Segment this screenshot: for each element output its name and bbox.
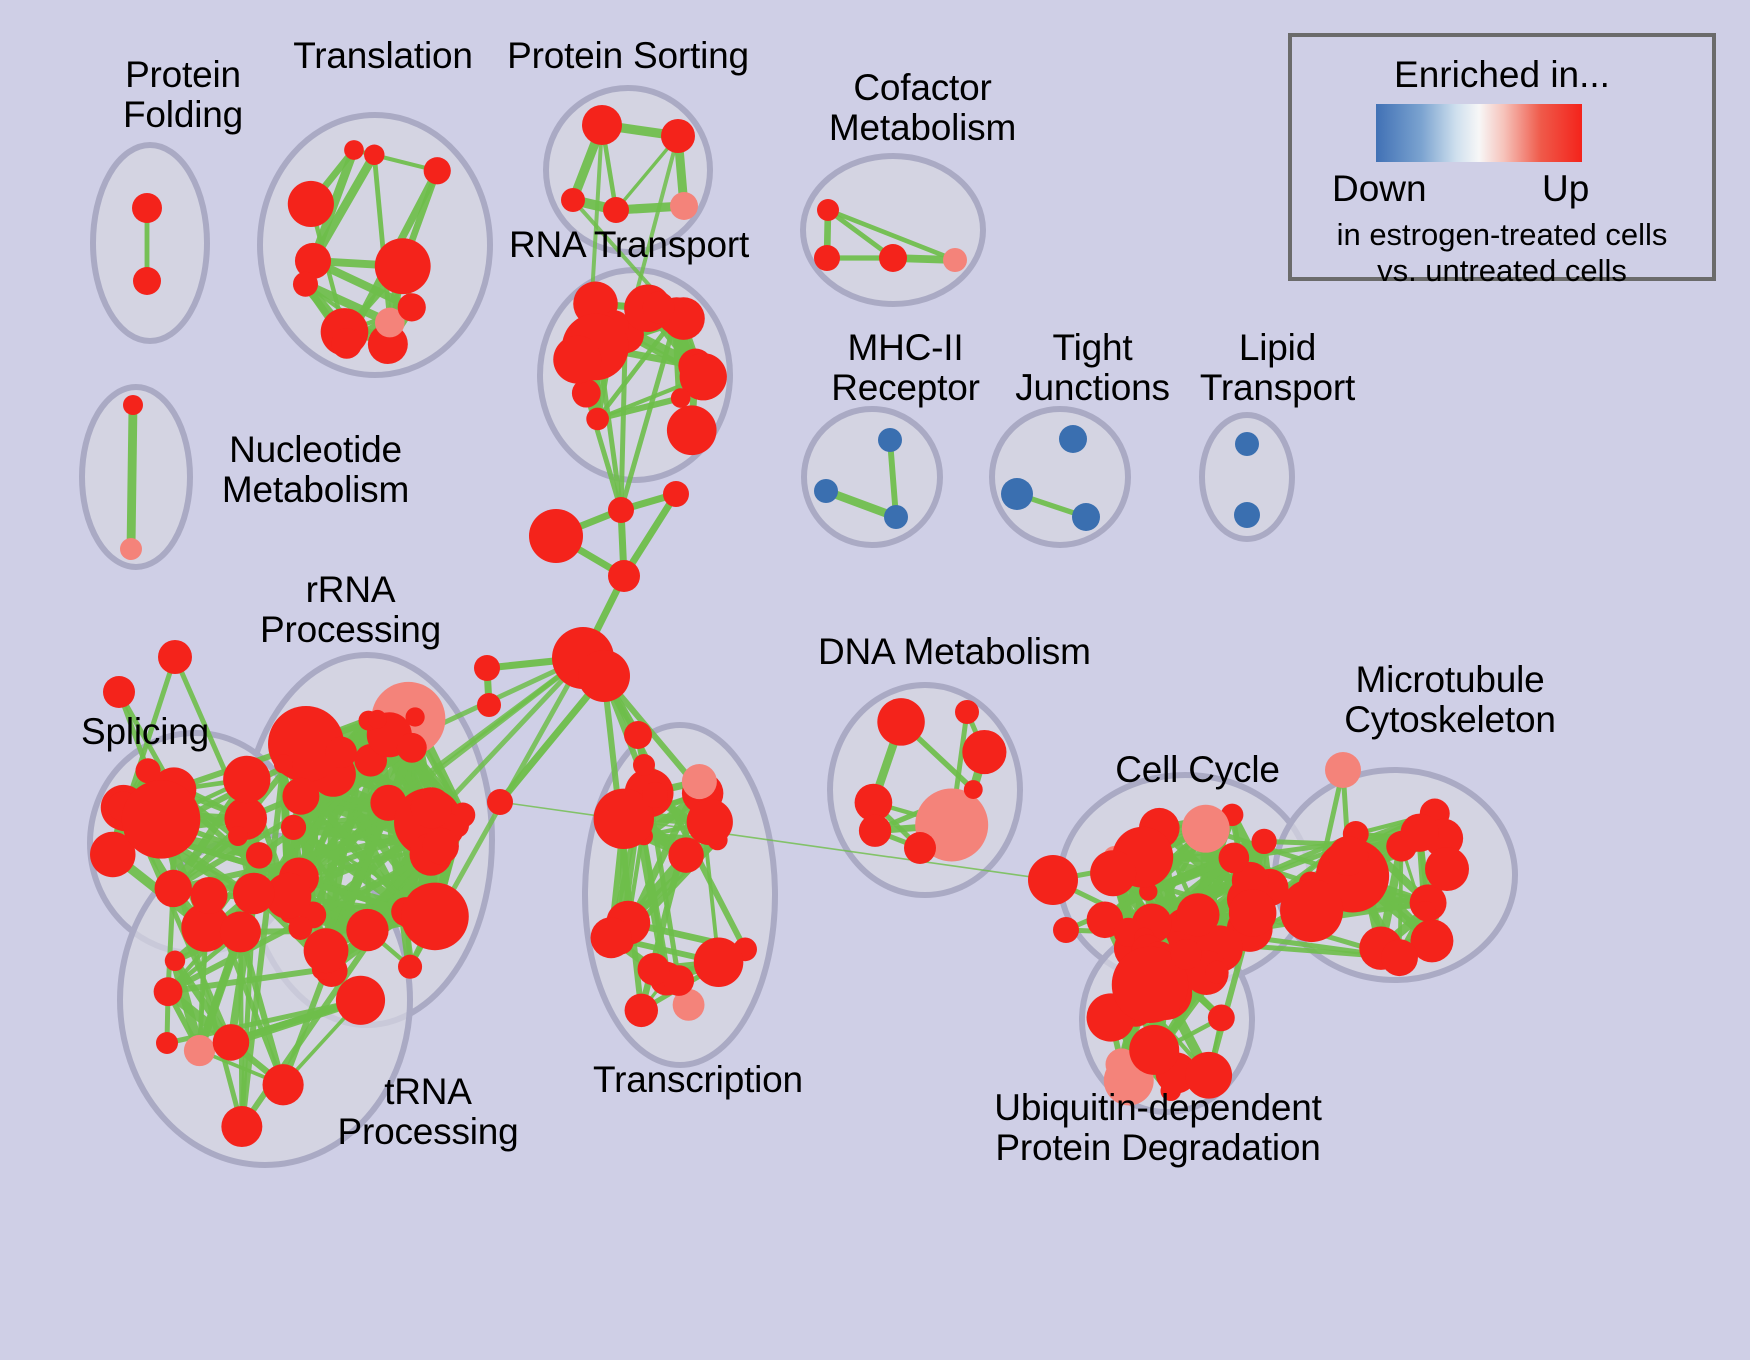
gene-set-node-translation <box>331 328 362 359</box>
gene-set-node-splicing <box>155 870 192 907</box>
gene-set-node-trna-processing <box>263 1064 304 1105</box>
network-edge <box>131 405 133 549</box>
gene-set-node-mhc-ii-receptor <box>878 428 902 452</box>
gene-set-node-cell-cycle <box>1182 805 1230 853</box>
cluster-label-cell-cycle: Cell Cycle <box>1105 750 1290 790</box>
gene-set-node-trna-processing <box>213 1024 250 1061</box>
gene-set-node-cell-cycle <box>1229 889 1277 937</box>
gene-set-node-microtubule-cytoskeleton <box>1415 901 1435 921</box>
cluster-label-cofactor-metabolism: Cofactor Metabolism <box>800 68 1045 148</box>
gene-set-node-lipid-transport <box>1234 502 1260 528</box>
gene-set-node-rrna-processing <box>422 828 459 865</box>
gene-set-node-nucleotide-metabolism <box>123 395 143 415</box>
gene-set-node-rrna-processing <box>368 710 387 729</box>
gene-set-node-bridge <box>642 782 668 808</box>
legend-up-label: Up <box>1542 168 1589 210</box>
cluster-ellipse-protein-folding <box>93 145 207 341</box>
cluster-label-dna-metabolism: DNA Metabolism <box>818 632 1088 672</box>
gene-set-node-rrna-processing <box>281 815 306 840</box>
gene-set-node-translation <box>364 145 384 165</box>
cluster-ellipse-mhc-ii-receptor <box>804 409 940 545</box>
gene-set-node-dna-metabolism <box>955 700 979 724</box>
cluster-label-microtubule-cytoskeleton: Microtubule Cytoskeleton <box>1305 660 1595 740</box>
gene-set-node-microtubule-cytoskeleton <box>1280 879 1343 942</box>
gene-set-node-splicing <box>103 676 135 708</box>
gene-set-node-trna-processing <box>165 951 185 971</box>
gene-set-node-dna-metabolism <box>859 815 891 847</box>
gene-set-node-transcription <box>638 953 670 985</box>
gene-set-node-microtubule-cytoskeleton <box>1381 939 1418 976</box>
gene-set-node-bridge <box>608 497 634 523</box>
cluster-label-translation: Translation <box>268 36 498 76</box>
gene-set-node-rna-transport <box>586 408 609 431</box>
gene-set-node-bridge <box>474 655 500 681</box>
cluster-label-rna-transport: RNA Transport <box>500 225 758 265</box>
gene-set-node-rna-transport <box>643 292 675 324</box>
gene-set-node-bridge <box>663 481 689 507</box>
gene-set-node-transcription <box>668 837 703 872</box>
gene-set-node-trna-processing <box>233 873 275 915</box>
gene-set-node-tight-junctions <box>1059 425 1087 453</box>
gene-set-node-translation <box>375 238 431 294</box>
gene-set-node-splicing <box>223 756 270 803</box>
gene-set-node-rrna-processing <box>325 737 356 768</box>
gene-set-node-rna-transport <box>667 405 717 455</box>
gene-set-node-microtubule-cytoskeleton <box>1325 752 1361 788</box>
gene-set-node-bridge <box>487 789 513 815</box>
gene-set-node-trna-processing <box>221 1106 262 1147</box>
gene-set-node-dna-metabolism <box>964 780 983 799</box>
gene-set-node-dna-metabolism <box>962 730 1006 774</box>
gene-set-node-bridge <box>529 509 583 563</box>
gene-set-node-microtubule-cytoskeleton <box>1328 836 1368 876</box>
gene-set-node-cell-cycle <box>1176 893 1219 936</box>
network-figure: Protein FoldingTranslationProtein Sortin… <box>0 0 1750 1360</box>
gene-set-node-protein-sorting <box>670 192 698 220</box>
gene-set-node-trna-processing <box>191 877 228 914</box>
legend-box: Enriched in... Down Up in estrogen-treat… <box>1288 33 1716 281</box>
gene-set-node-transcription <box>682 764 717 799</box>
gene-set-node-rrna-processing <box>411 787 452 828</box>
gene-set-node-microtubule-cytoskeleton <box>1400 814 1438 852</box>
gene-set-node-mhc-ii-receptor <box>884 505 908 529</box>
gene-set-node-nucleotide-metabolism <box>120 538 142 560</box>
gene-set-node-translation <box>293 272 318 297</box>
gene-set-node-splicing <box>122 780 200 858</box>
gene-set-node-lipid-transport <box>1235 432 1259 456</box>
gene-set-node-trna-processing <box>184 1035 215 1066</box>
gene-set-node-translation <box>398 293 426 321</box>
cluster-label-ubiquitin-degradation: Ubiquitin-dependent Protein Degradation <box>993 1088 1323 1168</box>
cluster-label-splicing: Splicing <box>60 712 230 752</box>
gene-set-node-rrna-processing <box>274 754 293 773</box>
gene-set-node-translation <box>288 181 334 227</box>
cluster-label-tight-junctions: Tight Junctions <box>985 328 1200 408</box>
gene-set-node-translation <box>344 140 364 160</box>
legend-title: Enriched in... <box>1292 54 1712 96</box>
gene-set-node-cofactor-metabolism <box>943 248 967 272</box>
gene-set-node-rna-transport <box>671 388 691 408</box>
gene-set-node-rrna-processing <box>398 955 422 979</box>
gene-set-node-transcription <box>694 937 744 987</box>
gene-set-node-bridge <box>633 754 655 776</box>
legend-down-label: Down <box>1332 168 1427 210</box>
gene-set-node-trna-processing <box>336 976 385 1025</box>
gene-set-node-bridge <box>578 650 630 702</box>
legend-subtitle-line2: vs. untreated cells <box>1292 253 1712 289</box>
cluster-label-transcription: Transcription <box>578 1060 818 1100</box>
gene-set-node-protein-sorting <box>582 105 622 145</box>
gene-set-node-rrna-processing <box>405 707 424 726</box>
gene-set-node-rrna-processing <box>397 733 427 763</box>
gene-set-node-ubiquitin-degradation <box>1171 939 1202 970</box>
gene-set-node-rrna-processing <box>289 916 313 940</box>
gene-set-node-protein-sorting <box>603 197 629 223</box>
cluster-ellipse-dna-metabolism <box>830 685 1020 895</box>
gene-set-node-tight-junctions <box>1072 503 1100 531</box>
cluster-ellipse-tight-junctions <box>992 409 1128 545</box>
cluster-label-trna-processing: tRNA Processing <box>318 1072 538 1152</box>
cluster-label-protein-folding: Protein Folding <box>83 55 283 135</box>
gene-set-node-bridge <box>624 721 652 749</box>
cluster-label-lipid-transport: Lipid Transport <box>1170 328 1385 408</box>
gene-set-node-protein-sorting <box>561 188 585 212</box>
cluster-label-nucleotide-metabolism: Nucleotide Metabolism <box>193 430 438 510</box>
gene-set-node-ubiquitin-degradation <box>1129 1025 1179 1075</box>
gene-set-node-protein-sorting <box>661 119 695 153</box>
gene-set-node-protein-folding <box>132 193 162 223</box>
gene-set-node-transcription <box>591 917 632 958</box>
gene-set-node-splicing <box>246 842 273 869</box>
gene-set-node-protein-folding <box>133 267 161 295</box>
gene-set-node-microtubule-cytoskeleton <box>1425 847 1469 891</box>
gene-set-node-cell-cycle <box>1252 829 1277 854</box>
gene-set-node-cofactor-metabolism <box>817 199 839 221</box>
gene-set-node-rrna-processing <box>401 883 469 951</box>
gene-set-node-rrna-processing <box>346 909 388 951</box>
gene-set-node-dna-metabolism <box>877 698 924 745</box>
gene-set-node-cofactor-metabolism <box>879 244 907 272</box>
gene-set-node-rna-transport <box>553 336 601 384</box>
gene-set-node-tight-junctions <box>1001 478 1033 510</box>
cluster-label-rrna-processing: rRNA Processing <box>243 570 458 650</box>
legend-color-bar <box>1376 104 1582 162</box>
gene-set-node-transcription <box>625 994 658 1027</box>
gene-set-node-rrna-processing <box>304 928 349 973</box>
gene-set-node-cofactor-metabolism <box>814 245 840 271</box>
gene-set-node-splicing <box>158 640 192 674</box>
gene-set-node-trna-processing <box>156 1032 178 1054</box>
gene-set-node-rrna-processing <box>282 778 319 815</box>
gene-set-node-translation <box>424 157 451 184</box>
gene-set-node-trna-processing <box>220 911 261 952</box>
gene-set-node-cell-cycle <box>1053 917 1079 943</box>
gene-set-node-dna-metabolism <box>904 832 936 864</box>
legend-subtitle-line1: in estrogen-treated cells <box>1292 217 1712 253</box>
gene-set-node-bridge <box>477 693 501 717</box>
gene-set-node-trna-processing <box>154 977 183 1006</box>
gene-set-node-cell-cycle <box>1028 855 1078 905</box>
gene-set-node-splicing <box>228 826 248 846</box>
gene-set-node-transcription <box>687 799 733 845</box>
gene-set-node-ubiquitin-degradation <box>1205 961 1228 984</box>
gene-set-node-cell-cycle <box>1219 843 1250 874</box>
gene-set-node-ubiquitin-degradation <box>1208 1004 1235 1031</box>
gene-set-node-cell-cycle <box>1090 850 1136 896</box>
cluster-label-protein-sorting: Protein Sorting <box>498 36 758 76</box>
cluster-label-mhc-ii-receptor: MHC-II Receptor <box>798 328 1013 408</box>
gene-set-node-mhc-ii-receptor <box>814 479 838 503</box>
gene-set-node-bridge <box>608 560 640 592</box>
